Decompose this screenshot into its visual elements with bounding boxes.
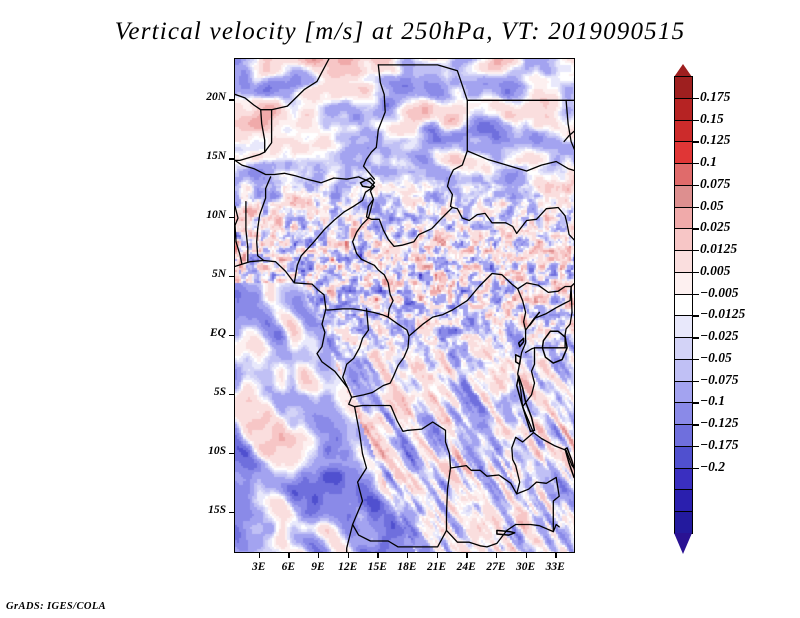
border-line (353, 468, 451, 547)
colorbar-label: −0.005 (700, 286, 739, 300)
y-tick-label-15s: 15S (186, 504, 226, 516)
border-line (294, 186, 374, 283)
y-tick (229, 217, 234, 218)
border-line (235, 206, 242, 264)
border-line (235, 261, 367, 554)
colorbar-tick (693, 207, 699, 208)
colorbar-label: −0.175 (700, 438, 739, 452)
colorbar-swatch (674, 141, 693, 164)
border-line (355, 274, 534, 494)
colorbar-swatch (674, 185, 693, 208)
border-line (378, 65, 467, 208)
x-tick (377, 553, 378, 558)
border-line (523, 348, 567, 407)
colorbar-label: −0.05 (700, 351, 732, 365)
y-tick-label-15n: 15N (186, 150, 226, 162)
colorbar-swatch (674, 76, 693, 99)
colorbar-swatch (674, 511, 693, 534)
colorbar-label: −0.075 (700, 373, 739, 387)
colorbar-swatch (674, 424, 693, 447)
x-tick-label-33e: 33E (537, 561, 573, 573)
x-tick (318, 553, 319, 558)
colorbar-tick (693, 163, 699, 164)
colorbar-tick (693, 98, 699, 99)
colorbar-swatch (674, 163, 693, 186)
border-line (343, 309, 369, 388)
lake-outline (530, 312, 540, 325)
colorbar-tick (693, 446, 699, 447)
colorbar-swatch (674, 315, 693, 338)
colorbar-label: 0.05 (700, 199, 724, 213)
x-tick (526, 553, 527, 558)
x-tick (555, 553, 556, 558)
border-line (327, 199, 393, 317)
colorbar-tick (693, 141, 699, 142)
colorbar-under-arrow (674, 533, 692, 554)
x-tick (348, 553, 349, 558)
y-tick-label-5n: 5N (186, 268, 226, 280)
lake-outline (519, 338, 524, 346)
colorbar-tick (693, 381, 699, 382)
border-line (526, 282, 575, 330)
colorbar-label: −0.2 (700, 460, 725, 474)
colorbar-swatch (674, 337, 693, 360)
x-tick (437, 553, 438, 558)
colorbar-swatches (674, 76, 693, 533)
lake-outline (361, 178, 375, 188)
country-borders-overlay (235, 59, 575, 553)
y-tick-label-20n: 20N (186, 91, 226, 103)
colorbar-tick (693, 250, 699, 251)
border-line (566, 100, 575, 153)
colorbar-swatch (674, 402, 693, 425)
colorbar-tick (693, 468, 699, 469)
colorbar-label: 0.1 (700, 155, 717, 169)
colorbar-swatch (674, 120, 693, 143)
colorbar-label: −0.125 (700, 416, 739, 430)
colorbar-label: −0.0125 (700, 307, 745, 321)
colorbar-label: −0.1 (700, 394, 725, 408)
border-line (246, 202, 248, 262)
border-line (364, 65, 386, 179)
colorbar-label: 0.075 (700, 177, 730, 191)
colorbar-swatch (674, 207, 693, 230)
colorbar-tick (693, 402, 699, 403)
y-tick-label-5s: 5S (186, 386, 226, 398)
x-tick (259, 553, 260, 558)
colorbar-label: 0.175 (700, 90, 730, 104)
colorbar-swatch (674, 489, 693, 512)
y-tick-label-eq: EQ (186, 327, 226, 339)
lake-outline (565, 448, 575, 478)
x-tick (466, 553, 467, 558)
colorbar-tick (693, 424, 699, 425)
x-tick (496, 553, 497, 558)
colorbar-tick (693, 228, 699, 229)
colorbar-swatch (674, 381, 693, 404)
y-tick-label-10s: 10S (186, 445, 226, 457)
x-tick (407, 553, 408, 558)
grads-attribution: GrADS: IGES/COLA (6, 601, 106, 612)
colorbar-swatch (674, 468, 693, 491)
colorbar-swatch (674, 272, 693, 295)
map-plot-area (234, 58, 575, 553)
border-line (467, 151, 575, 171)
colorbar-swatch (674, 228, 693, 251)
border-line (235, 94, 272, 160)
colorbar-tick (693, 272, 699, 273)
border-line (518, 283, 571, 293)
colorbar-tick (693, 337, 699, 338)
page-title: Vertical velocity [m/s] at 250hPa, VT: 2… (0, 18, 800, 46)
border-line (272, 59, 329, 110)
border-line (447, 525, 560, 547)
colorbar-swatch (674, 446, 693, 469)
border-line (235, 160, 517, 246)
lake-outline (516, 355, 521, 364)
y-tick (229, 276, 234, 277)
y-tick (229, 99, 234, 100)
colorbar-label: 0.005 (700, 264, 730, 278)
border-line (526, 348, 535, 353)
y-tick (229, 394, 234, 395)
colorbar-label: 0.15 (700, 112, 724, 126)
x-tick (288, 553, 289, 558)
colorbar-label: −0.025 (700, 329, 739, 343)
colorbar-label: 0.125 (700, 133, 730, 147)
y-tick (229, 335, 234, 336)
colorbar-tick (693, 359, 699, 360)
colorbar-tick (693, 120, 699, 121)
border-line (517, 208, 575, 242)
y-tick-label-10n: 10N (186, 209, 226, 221)
border-line (517, 477, 560, 531)
colorbar-tick (693, 185, 699, 186)
colorbar-swatch (674, 294, 693, 317)
y-tick (229, 453, 234, 454)
y-tick (229, 512, 234, 513)
border-line (258, 177, 271, 229)
y-tick (229, 158, 234, 159)
colorbar-tick (693, 294, 699, 295)
colorbar-swatch (674, 250, 693, 273)
colorbar-swatch (674, 98, 693, 121)
colorbar-label: 0.0125 (700, 242, 737, 256)
border-line (257, 229, 264, 261)
colorbar-tick (693, 315, 699, 316)
border-line (261, 110, 265, 152)
border-line (352, 317, 409, 397)
colorbar-swatch (674, 359, 693, 382)
colorbar-label: 0.025 (700, 220, 730, 234)
